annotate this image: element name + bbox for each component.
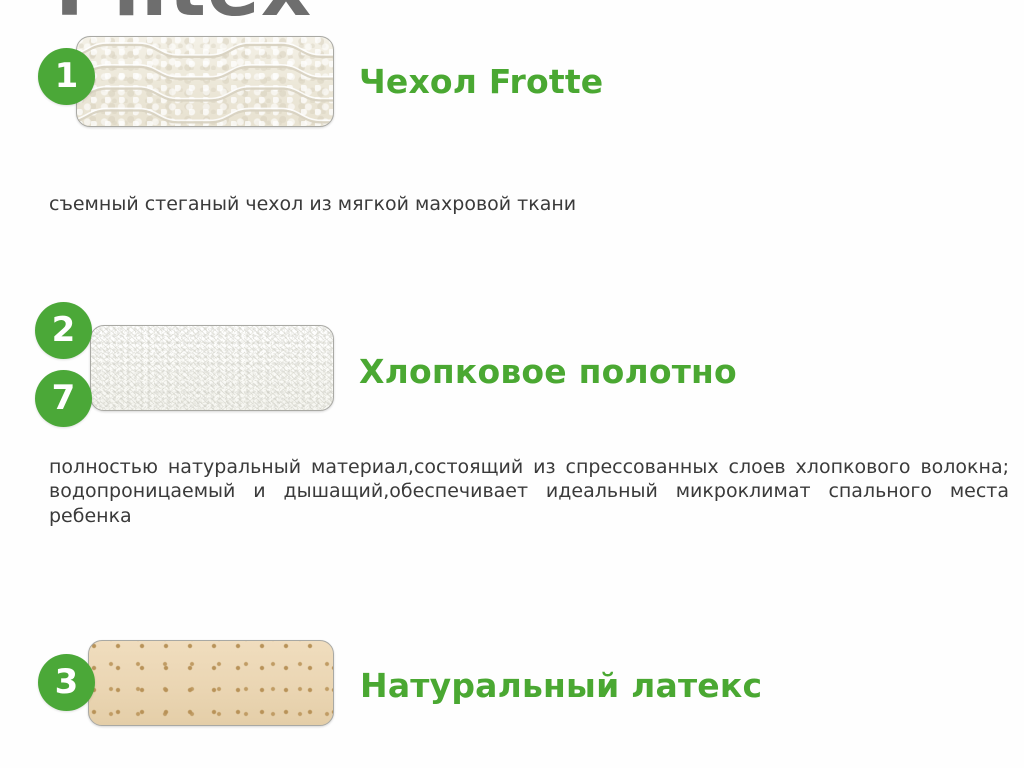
page-title-cutoff: Plitex [55, 0, 312, 34]
infographic-page: Plitex 1 Чехол Frotte съемный стеганый ч… [0, 0, 1024, 768]
swatch-perforated-latex-layer [88, 640, 334, 726]
layer-badge-1: 1 [38, 48, 95, 105]
layer-badge-3-number: 3 [55, 665, 79, 699]
layer-badge-2: 2 [35, 302, 92, 359]
layer-heading-cotton: Хлопковое полотно [359, 352, 737, 391]
layer-badge-3: 3 [38, 654, 95, 711]
layer-description-cotton: полностью натуральный материал,состоящий… [49, 455, 1009, 528]
quilt-seam-pattern-icon [77, 37, 333, 127]
layer-heading-frotte: Чехол Frotte [359, 62, 603, 101]
layer-badge-1-number: 1 [55, 59, 79, 93]
swatch-cotton-felt-layer [90, 325, 334, 411]
layer-heading-latex: Натуральный латекс [360, 666, 762, 705]
layer-description-frotte: съемный стеганый чехол из мягкой махрово… [49, 192, 749, 216]
layer-badge-7-number: 7 [52, 381, 76, 415]
layer-badge-2-number: 2 [52, 313, 76, 347]
layer-badge-7: 7 [35, 370, 92, 427]
swatch-quilted-frotte-cover [76, 36, 334, 127]
